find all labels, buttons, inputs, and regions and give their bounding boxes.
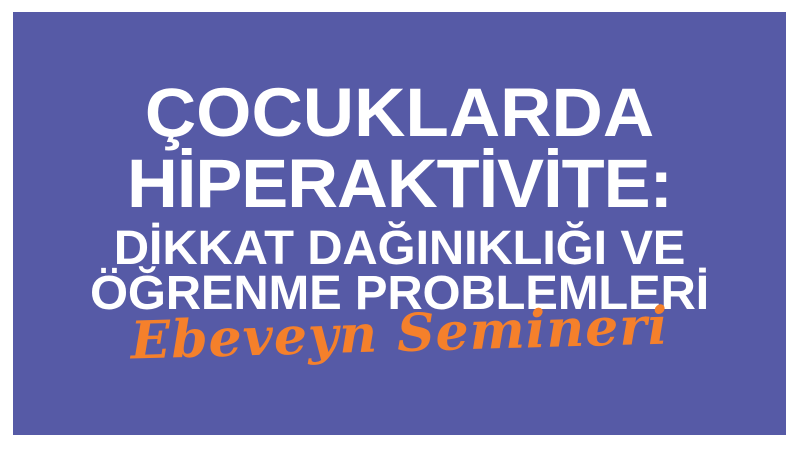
headline-line-1: ÇOCUKLARDA xyxy=(13,78,786,147)
headline-line-3: DİKKAT DAĞINIKLIĞI VE xyxy=(13,225,786,273)
purple-background-panel: ÇOCUKLARDA HİPERAKTİVİTE: DİKKAT DAĞINIK… xyxy=(13,12,786,435)
poster-canvas: ÇOCUKLARDA HİPERAKTİVİTE: DİKKAT DAĞINIK… xyxy=(0,0,800,450)
headline-line-2: HİPERAKTİVİTE: xyxy=(13,149,786,218)
